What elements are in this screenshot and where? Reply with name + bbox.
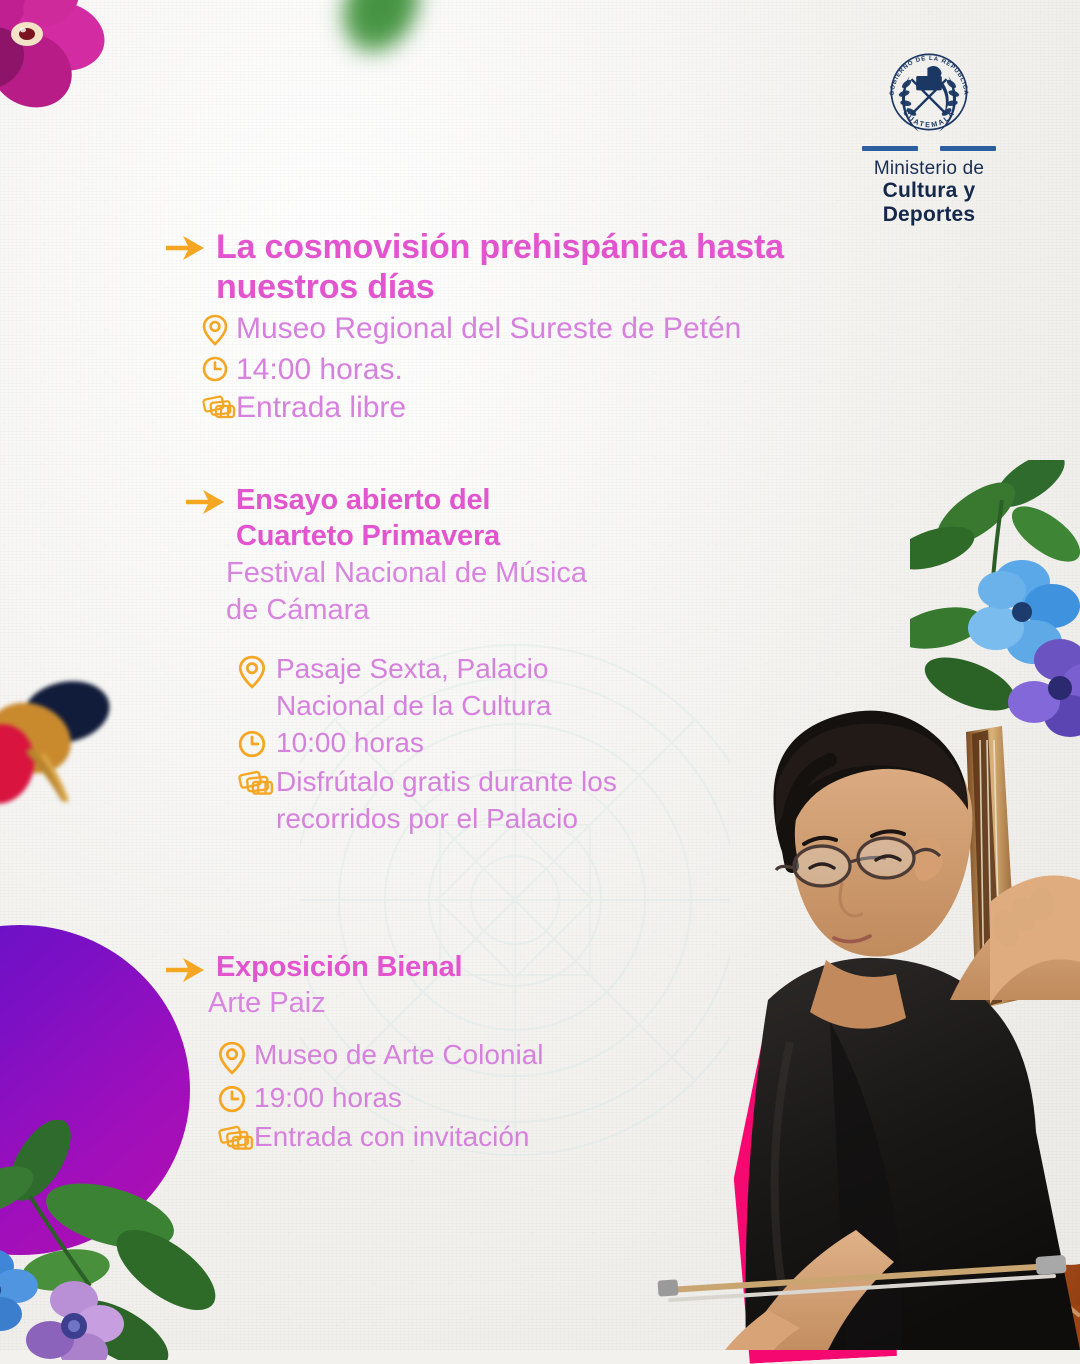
event-2-location-line-2: Nacional de la Cultura xyxy=(276,688,552,725)
event-2-location-row: Pasaje Sexta, Palacio Nacional de la Cul… xyxy=(238,651,866,725)
clock-icon xyxy=(202,355,236,388)
event-item-1: La cosmovisión prehispánica hasta nuestr… xyxy=(166,228,846,427)
event-2-time: 10:00 horas xyxy=(276,725,424,762)
event-3-location-row: Museo de Arte Colonial xyxy=(218,1037,846,1080)
ministry-logo: GOBIERNO DE LA REPÚBLICA GUATEMALA xyxy=(834,44,1024,227)
event-1-location: Museo Regional del Sureste de Petén xyxy=(236,310,741,348)
guatemala-seal-icon: GOBIERNO DE LA REPÚBLICA GUATEMALA xyxy=(881,44,977,140)
arrow-right-icon xyxy=(166,957,206,983)
event-2-title-line-1: Ensayo abierto del xyxy=(236,482,500,518)
event-1-details: Museo Regional del Sureste de Petén 14:0… xyxy=(202,310,846,427)
event-2-subtitle-line-1: Festival Nacional de Música xyxy=(226,555,866,592)
map-pin-icon xyxy=(202,314,236,351)
tickets-icon xyxy=(202,393,236,426)
event-3-admission-row: Entrada con invitación xyxy=(218,1119,846,1158)
event-2-time-row: 10:00 horas xyxy=(238,725,866,764)
event-2-admission-row: Disfrútalo gratis durante los recorridos… xyxy=(238,764,866,838)
event-1-title-line-2: nuestros días xyxy=(216,268,784,308)
event-1-time-row: 14:00 horas. xyxy=(202,351,846,389)
ministry-line-2: Cultura y Deportes xyxy=(834,179,1024,227)
event-2-admission-line-2: recorridos por el Palacio xyxy=(276,801,617,838)
tickets-icon xyxy=(218,1123,254,1158)
event-3-details: Museo de Arte Colonial 19:00 horas Entra… xyxy=(218,1037,846,1158)
event-2-location-group: Pasaje Sexta, Palacio Nacional de la Cul… xyxy=(276,651,552,725)
map-pin-icon xyxy=(238,655,276,694)
logo-divider-bars xyxy=(834,146,1024,151)
event-3-title-group: Exposición Bienal xyxy=(216,950,462,985)
event-1-admission: Entrada libre xyxy=(236,389,406,427)
event-2-subtitle-line-2: de Cámara xyxy=(226,592,866,629)
event-1-location-row: Museo Regional del Sureste de Petén xyxy=(202,310,846,351)
tickets-icon xyxy=(238,768,276,803)
event-2-header: Ensayo abierto del Cuarteto Primavera xyxy=(186,482,866,555)
event-3-time-row: 19:00 horas xyxy=(218,1080,846,1119)
event-1-title-line-1: La cosmovisión prehispánica hasta xyxy=(216,228,784,268)
event-3-subtitle-line-1: Arte Paiz xyxy=(208,985,846,1021)
map-pin-icon xyxy=(218,1041,254,1080)
event-2-title-group: Ensayo abierto del Cuarteto Primavera xyxy=(236,482,500,555)
event-1-header: La cosmovisión prehispánica hasta nuestr… xyxy=(166,228,846,308)
event-1-title-group: La cosmovisión prehispánica hasta nuestr… xyxy=(216,228,784,308)
event-item-2: Ensayo abierto del Cuarteto Primavera Fe… xyxy=(186,482,866,838)
clock-icon xyxy=(238,729,276,764)
event-3-time: 19:00 horas xyxy=(254,1080,402,1116)
event-1-admission-row: Entrada libre xyxy=(202,389,846,427)
clock-icon xyxy=(218,1084,254,1119)
event-item-3: Exposición Bienal Arte Paiz Museo de Art… xyxy=(166,950,846,1158)
ministry-line-1: Ministerio de xyxy=(834,158,1024,179)
event-3-location: Museo de Arte Colonial xyxy=(254,1037,544,1073)
event-2-location-line-1: Pasaje Sexta, Palacio xyxy=(276,651,552,688)
event-2-admission-line-1: Disfrútalo gratis durante los xyxy=(276,764,617,801)
event-2-title-line-2: Cuarteto Primavera xyxy=(236,518,500,554)
event-1-time: 14:00 horas. xyxy=(236,351,403,389)
event-2-admission-group: Disfrútalo gratis durante los recorridos… xyxy=(276,764,617,838)
event-3-header: Exposición Bienal xyxy=(166,950,846,985)
arrow-right-icon xyxy=(186,489,226,515)
arrow-right-icon xyxy=(166,235,206,261)
event-3-admission: Entrada con invitación xyxy=(254,1119,530,1155)
event-3-title-line-1: Exposición Bienal xyxy=(216,950,462,985)
event-2-details: Pasaje Sexta, Palacio Nacional de la Cul… xyxy=(238,651,866,838)
